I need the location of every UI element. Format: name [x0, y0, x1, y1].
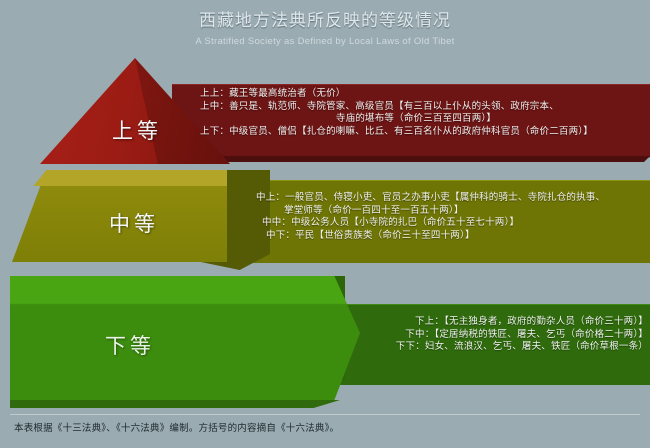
- tier-lower-text: 下上：【无主独身者，政府的勤杂人员（命价三十两）】 下中：【定居纳税的铁匠、屠夫…: [318, 316, 648, 354]
- tier-middle-line-3: 中中：中级公务人员【小寺院的扎巴（命价五十至七十两）】: [240, 217, 640, 230]
- chart-subtitle: A Stratified Society as Defined by Local…: [0, 36, 650, 47]
- chart-header: 西藏地方法典所反映的等级情况 A Stratified Society as D…: [0, 6, 650, 47]
- tier-lower-line-3: 下下：妇女、流浪汉、乞丐、屠夫、铁匠（命价草根一条）: [318, 341, 648, 354]
- tier-middle-line-2: 掌堂师等（命价一百四十至一百五十两）】: [240, 205, 640, 218]
- tier-lower-line-1: 下上：【无主独身者，政府的勤杂人员（命价三十两）】: [318, 316, 648, 329]
- tier-lower-line-2: 下中：【定居纳税的铁匠、屠夫、乞丐（命价格二十两）】: [318, 329, 648, 342]
- tier-upper-line-2: 上中：善只是、轨范师、寺院管家、高级官员【有三百以上仆从的头领、政府宗本、: [186, 101, 646, 114]
- chart-title: 西藏地方法典所反映的等级情况: [0, 6, 650, 31]
- tier-upper-line-4: 上下：中级官员、僧侣【扎仓的喇嘛、比丘、有三百名仆从的政府仲科官员（命价二百两）…: [186, 126, 646, 139]
- tier-middle-line-4: 中下：平民【世俗贵族类（命价三十至四十两）】: [240, 230, 640, 243]
- tier-lower-base: [10, 400, 340, 408]
- footer-divider: [10, 414, 640, 415]
- tier-middle-trapezoid-highlight: [12, 170, 227, 186]
- tier-upper-line-1: 上上：藏王等最高统治者（无价）: [186, 88, 646, 101]
- footer-note: 本表根据《十三法典》、《十六法典》编制。方括号的内容摘自《十六法典》。: [14, 420, 634, 434]
- tier-middle-text: 中上：一般官员、侍寝小吏、官员之办事小吏【属仲科的骑士、寺院扎仓的执事、 掌堂师…: [240, 192, 640, 242]
- tier-middle-label: 中等: [64, 208, 204, 238]
- tier-middle-line-1: 中上：一般官员、侍寝小吏、官员之办事小吏【属仲科的骑士、寺院扎仓的执事、: [240, 192, 640, 205]
- stratified-society-pyramid-chart: 西藏地方法典所反映的等级情况 A Stratified Society as D…: [0, 0, 650, 448]
- tier-upper-text: 上上：藏王等最高统治者（无价） 上中：善只是、轨范师、寺院管家、高级官员【有三百…: [186, 88, 646, 138]
- tier-lower-label: 下等: [50, 330, 210, 360]
- tier-upper-slab-bevel: [172, 156, 650, 162]
- tier-upper-label: 上等: [72, 115, 202, 145]
- tier-upper-line-3: 寺庙的堪布等（命价三百至四百两）】: [186, 113, 646, 126]
